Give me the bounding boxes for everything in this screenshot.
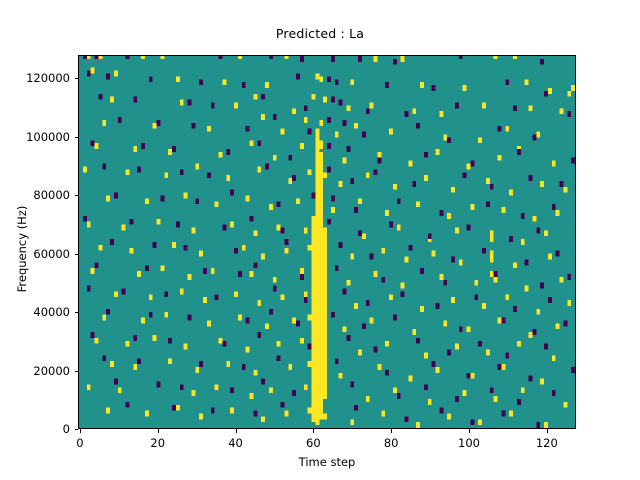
- x-tick-mark: [236, 429, 237, 433]
- y-tick-mark: [75, 195, 79, 196]
- x-tick-label: 0: [76, 436, 83, 450]
- chart-title: Predicted : La: [0, 26, 640, 41]
- y-tick-label: 80000: [0, 188, 70, 202]
- x-tick-label: 60: [306, 436, 321, 450]
- x-tick-label: 20: [150, 436, 165, 450]
- y-tick-label: 60000: [0, 247, 70, 261]
- x-tick-mark: [80, 429, 81, 433]
- x-tick-label: 40: [228, 436, 243, 450]
- x-tick-mark: [469, 429, 470, 433]
- x-tick-mark: [158, 429, 159, 433]
- x-tick-mark: [313, 429, 314, 433]
- x-tick-mark: [391, 429, 392, 433]
- x-axis-label: Time step: [78, 455, 576, 469]
- y-tick-label: 0: [0, 422, 70, 436]
- y-tick-mark: [75, 371, 79, 372]
- y-axis-label: Frequency (Hz): [15, 149, 29, 349]
- x-tick-label: 100: [458, 436, 480, 450]
- y-tick-mark: [75, 78, 79, 79]
- y-tick-mark: [75, 254, 79, 255]
- x-tick-label: 80: [384, 436, 399, 450]
- x-tick-label: 120: [536, 436, 558, 450]
- y-tick-label: 120000: [0, 71, 70, 85]
- figure-canvas: Predicted : La 0200004000060000800001000…: [0, 0, 640, 480]
- heatmap-axes[interactable]: [78, 55, 576, 429]
- y-tick-label: 20000: [0, 364, 70, 378]
- y-tick-mark: [75, 312, 79, 313]
- heatmap-image: [79, 56, 575, 428]
- y-tick-label: 40000: [0, 305, 70, 319]
- y-tick-mark: [75, 429, 79, 430]
- y-tick-label: 100000: [0, 130, 70, 144]
- y-tick-mark: [75, 137, 79, 138]
- x-tick-mark: [547, 429, 548, 433]
